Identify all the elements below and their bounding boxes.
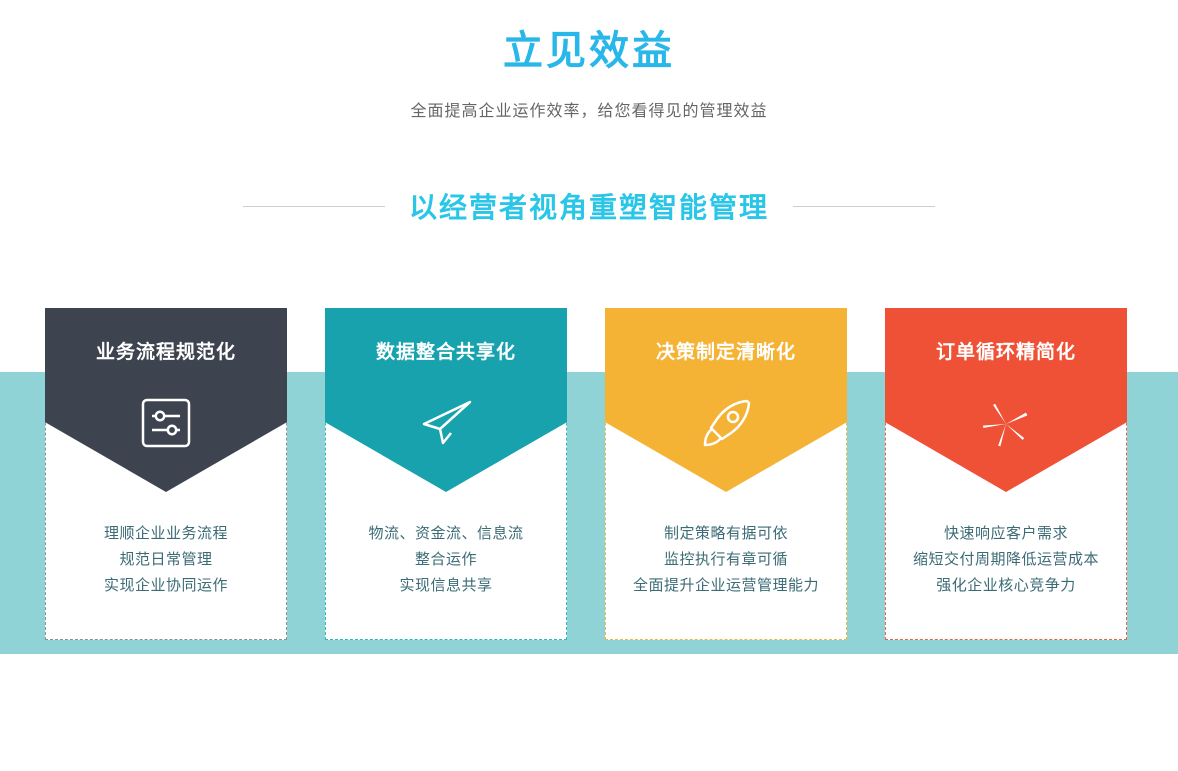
card-body: 物流、资金流、信息流 整合运作 实现信息共享 <box>326 521 566 599</box>
divider-right <box>793 206 935 207</box>
card-line: 缩短交付周期降低运营成本 <box>886 547 1126 573</box>
card-title: 业务流程规范化 <box>46 337 286 364</box>
card-body: 快速响应客户需求 缩短交付周期降低运营成本 强化企业核心竞争力 <box>886 521 1126 599</box>
card-body: 制定策略有据可依 监控执行有章可循 全面提升企业运营管理能力 <box>606 521 846 599</box>
card-line: 整合运作 <box>326 547 566 573</box>
feature-card[interactable]: 决策制定清晰化 制定策略有据可依 监控执行有章可循 全面提升企业运营管理能力 <box>605 308 847 640</box>
page-subtitle: 全面提高企业运作效率，给您看得见的管理效益 <box>0 100 1178 124</box>
section-heading: 以经营者视角重塑智能管理 <box>0 186 1178 226</box>
section-title: 以经营者视角重塑智能管理 <box>409 186 769 226</box>
aperture-icon <box>886 397 1126 456</box>
feature-card[interactable]: 业务流程规范化 理顺企业业务流程 规范日常管理 实现企业协同运作 <box>45 308 287 640</box>
card-line: 制定策略有据可依 <box>606 521 846 547</box>
card-line: 监控执行有章可循 <box>606 547 846 573</box>
sliders-icon <box>46 397 286 454</box>
card-line: 规范日常管理 <box>46 547 286 573</box>
card-line: 理顺企业业务流程 <box>46 521 286 547</box>
divider-left <box>243 206 385 207</box>
paper-plane-icon <box>326 397 566 454</box>
card-title: 决策制定清晰化 <box>606 337 846 364</box>
card-title: 数据整合共享化 <box>326 337 566 364</box>
card-body: 理顺企业业务流程 规范日常管理 实现企业协同运作 <box>46 521 286 599</box>
card-line: 快速响应客户需求 <box>886 521 1126 547</box>
card-line: 强化企业核心竞争力 <box>886 573 1126 599</box>
rocket-icon <box>606 397 846 454</box>
page-title: 立见效益 <box>0 22 1178 80</box>
card-title: 订单循环精简化 <box>886 337 1126 364</box>
feature-card[interactable]: 数据整合共享化 物流、资金流、信息流 整合运作 实现信息共享 <box>325 308 567 640</box>
card-line: 实现企业协同运作 <box>46 573 286 599</box>
card-line: 实现信息共享 <box>326 573 566 599</box>
page-header: 立见效益 全面提高企业运作效率，给您看得见的管理效益 以经营者视角重塑智能管理 <box>0 0 1178 226</box>
card-line: 物流、资金流、信息流 <box>326 521 566 547</box>
card-line: 全面提升企业运营管理能力 <box>606 573 846 599</box>
feature-card-list: 业务流程规范化 理顺企业业务流程 规范日常管理 实现企业协同运作 数据整合共享化 <box>45 308 1133 640</box>
feature-card[interactable]: 订单循环精简化 快速响应客户需求 缩短交付周期降低运营成本 强化企业核心竞争力 <box>885 308 1127 640</box>
